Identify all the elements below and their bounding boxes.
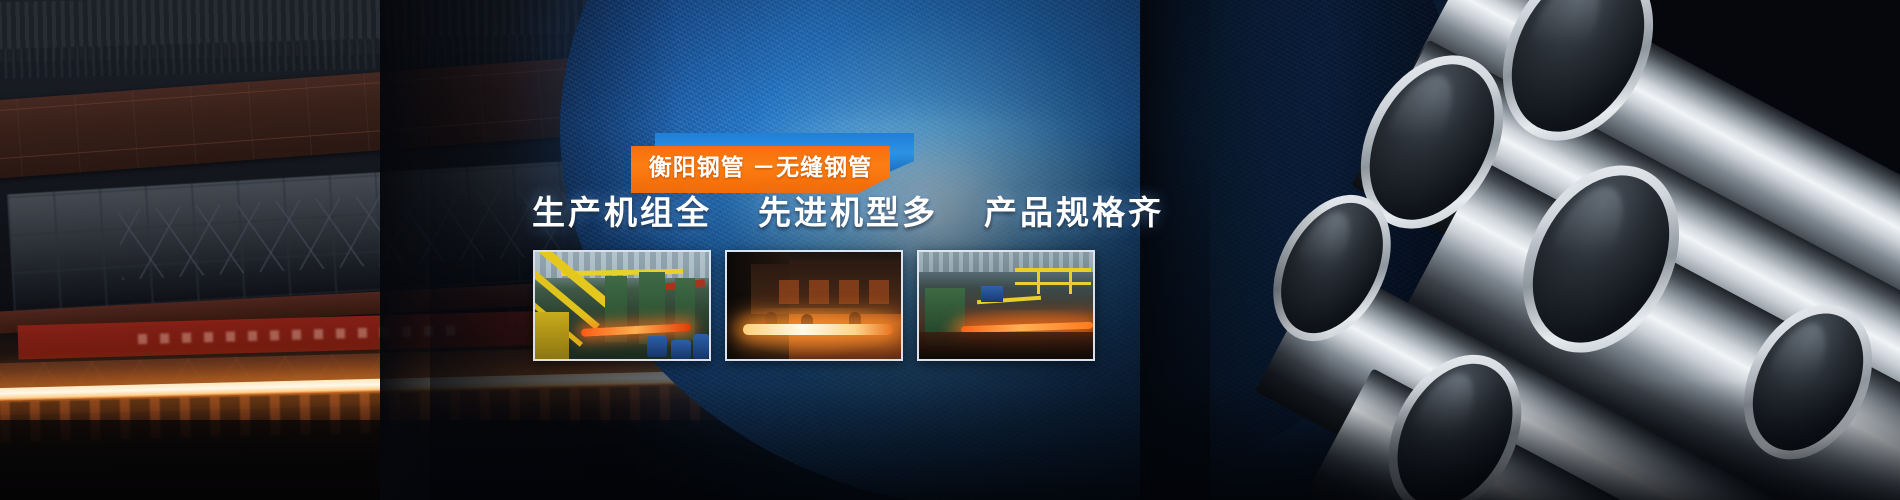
brand-badge: 衡阳钢管 －无缝钢管 bbox=[631, 133, 914, 193]
promotional-banner: 衡阳钢管 －无缝钢管 生产机组全 先进机型多 产品规格齐 bbox=[0, 0, 1900, 500]
slogan-2: 先进机型多 bbox=[758, 196, 938, 229]
mill-window-1 bbox=[779, 280, 799, 304]
blue-motor-1 bbox=[647, 336, 667, 357]
yellow-post-1 bbox=[1037, 268, 1040, 294]
mill-window-2 bbox=[809, 280, 829, 304]
foreground-machinery bbox=[919, 332, 1093, 359]
thumbnail-hot-steel-billet-mill[interactable] bbox=[725, 250, 903, 361]
blue-motor-3 bbox=[693, 334, 709, 359]
incandescent-billet bbox=[743, 324, 893, 335]
factory-floor-shadow bbox=[0, 420, 780, 500]
blue-equipment-box bbox=[981, 286, 1003, 302]
mill-window-4 bbox=[869, 280, 889, 304]
slogan-1: 生产机组全 bbox=[532, 196, 712, 229]
yellow-railing-mid bbox=[1015, 282, 1091, 285]
thumbnail-seamless-tube-production-line[interactable] bbox=[917, 250, 1095, 361]
thumbnail-rolling-mill-workshop[interactable] bbox=[533, 250, 711, 361]
thumbnail-strip bbox=[533, 250, 1095, 361]
badge-orange-plate: 衡阳钢管 －无缝钢管 bbox=[631, 146, 890, 193]
thumbnail-image-3 bbox=[919, 252, 1093, 359]
yellow-post-2 bbox=[1069, 268, 1072, 294]
blue-motor-2 bbox=[671, 340, 691, 359]
mill-window-3 bbox=[839, 280, 859, 304]
slogan-3: 产品规格齐 bbox=[984, 196, 1164, 229]
steel-pipes-image bbox=[1140, 0, 1900, 500]
yellow-machine bbox=[535, 312, 569, 359]
yellow-railing-top bbox=[1015, 268, 1091, 272]
thumbnail-image-1 bbox=[535, 252, 709, 359]
badge-label: 衡阳钢管 －无缝钢管 bbox=[649, 156, 872, 179]
thumbnail-image-2 bbox=[727, 252, 901, 359]
headline-slogans: 生产机组全 先进机型多 产品规格齐 bbox=[532, 196, 1164, 229]
